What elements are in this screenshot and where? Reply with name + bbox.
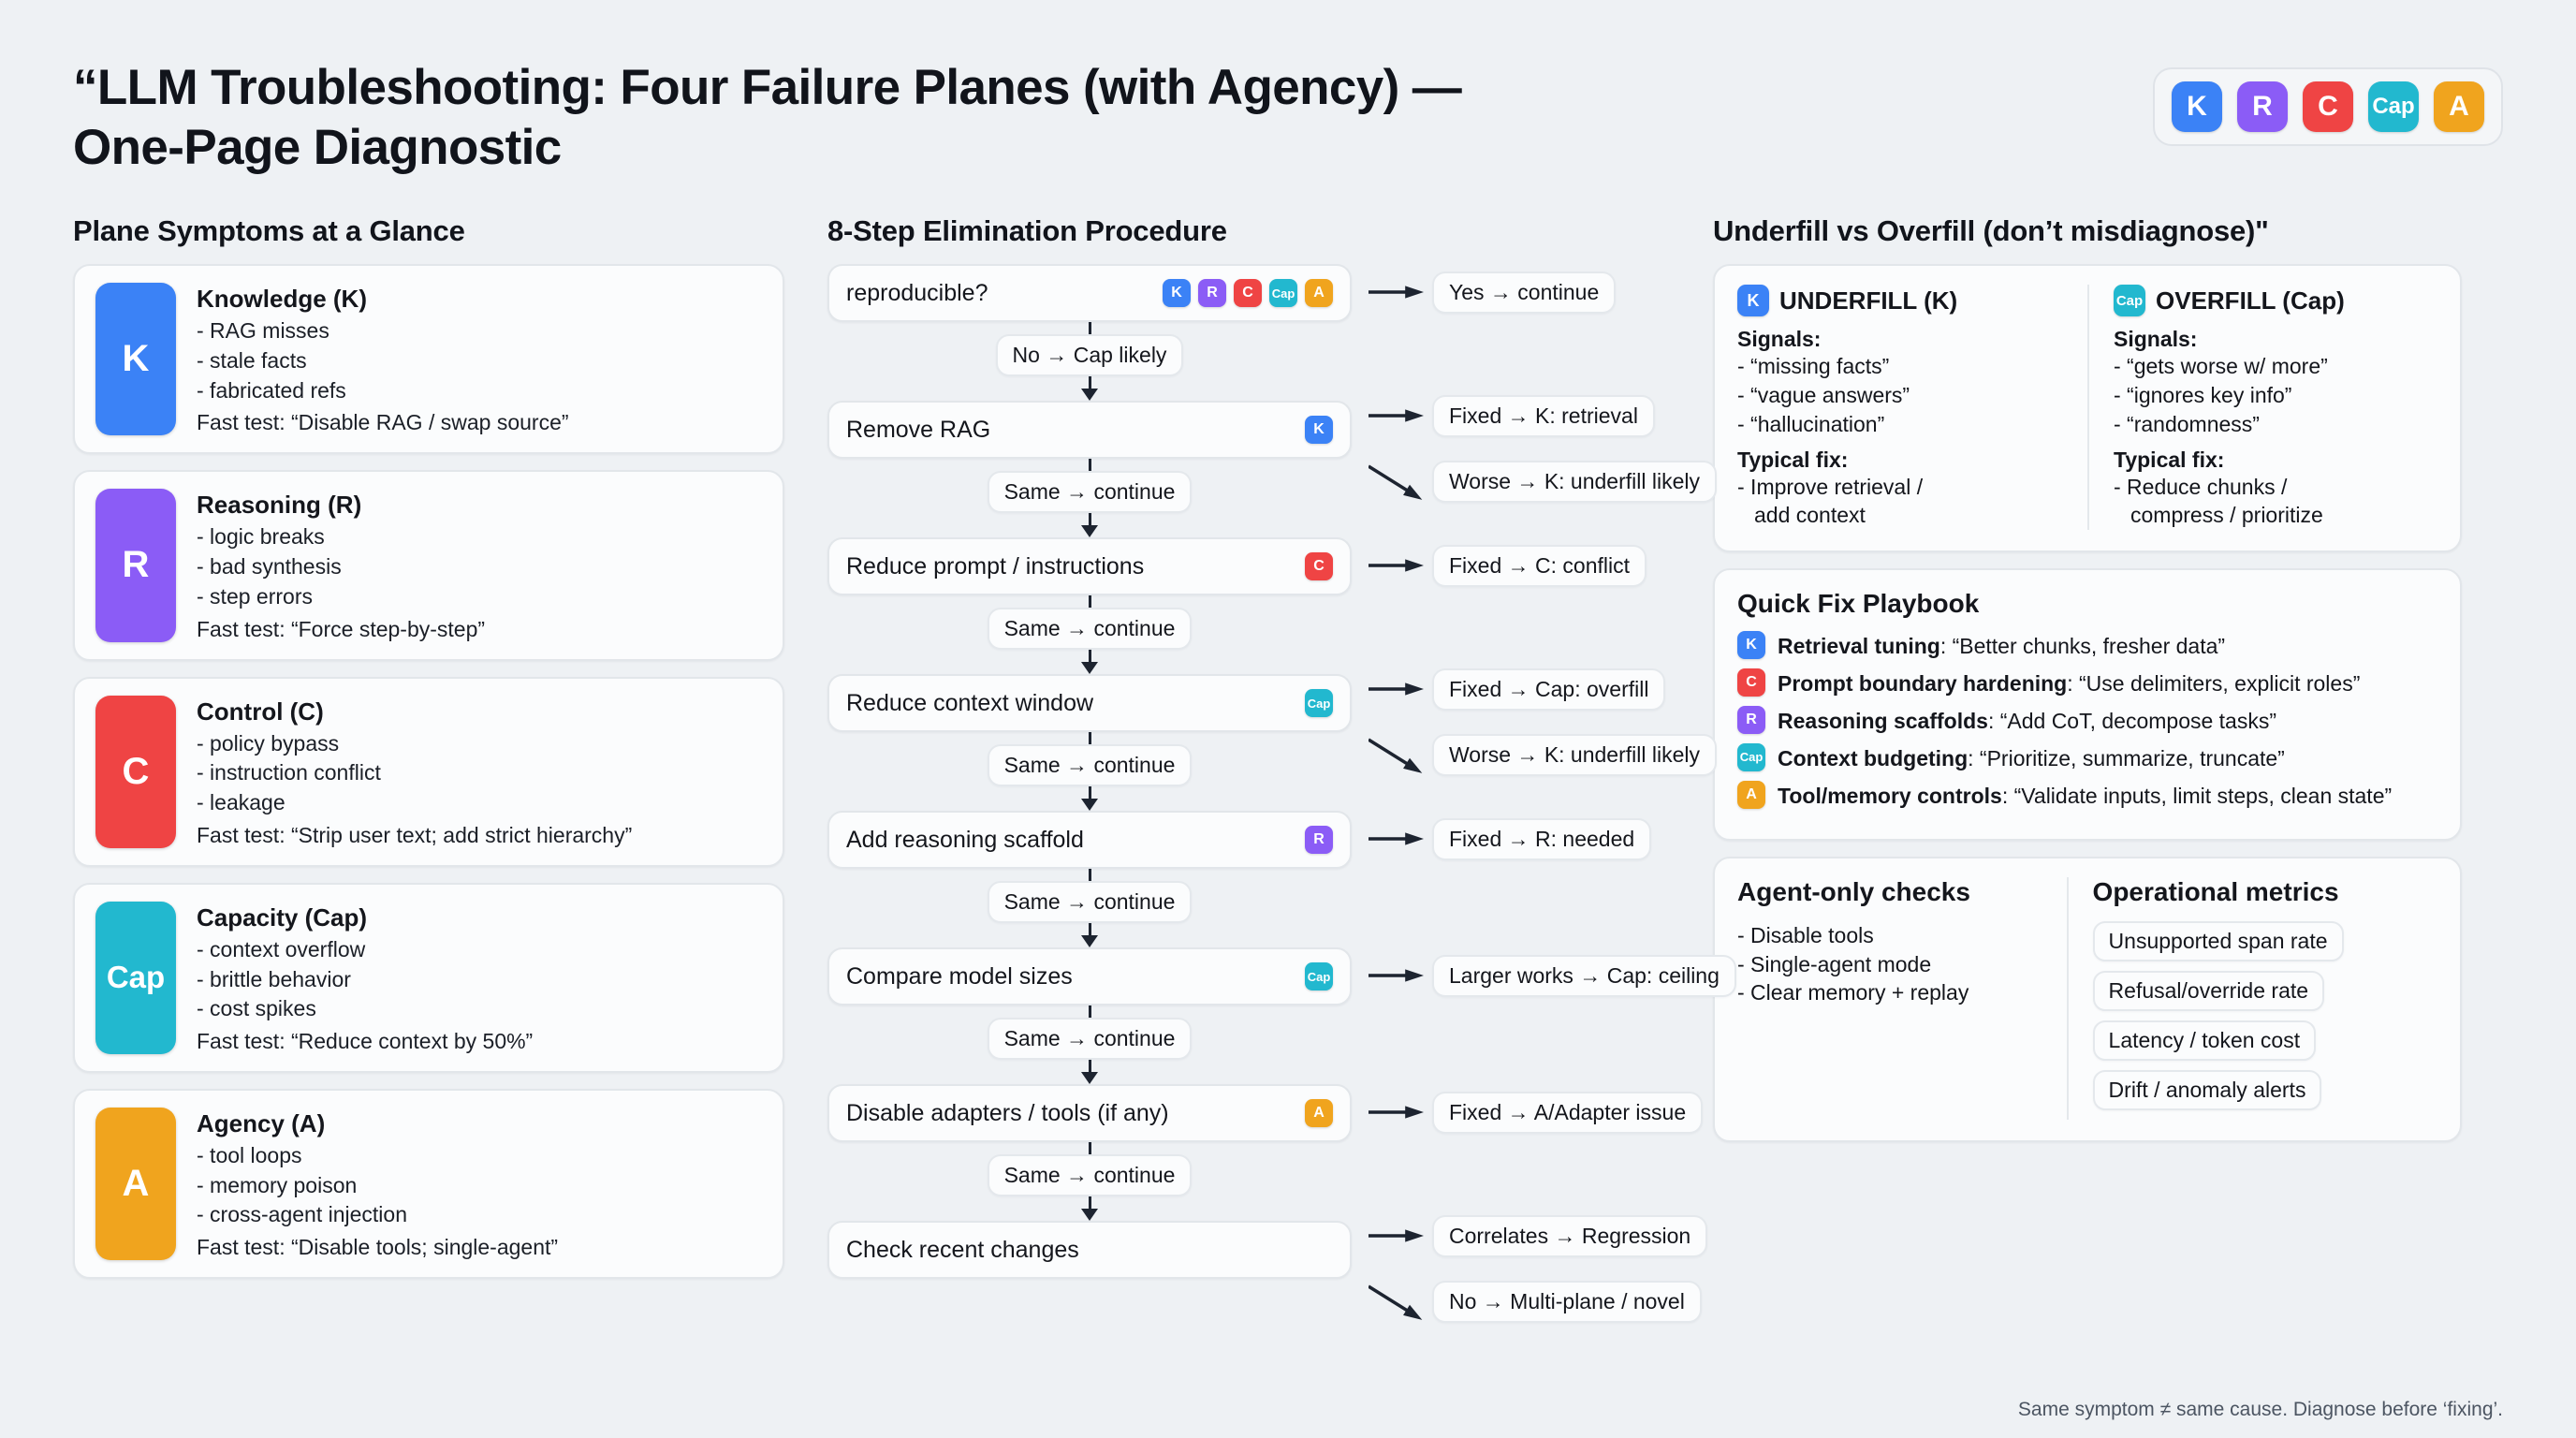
badge-a-icon: A [1305,279,1333,307]
overfill-fix-list: - Reduce chunks /compress / prioritize [2114,473,2437,531]
agent-checks-list: - Disable tools- Single-agent mode- Clea… [1737,921,2052,1007]
underfill-fix-list: - Improve retrieval /add context [1737,473,2069,531]
flow-connector: Same → continue [827,732,1352,811]
flow-step-badges: C [1305,552,1333,580]
flow-arrow-icon [1368,953,1427,998]
flow-connector-line [1089,322,1091,334]
operational-metric-chip[interactable]: Drift / anomaly alerts [2093,1070,2322,1110]
flow-step-row: Reduce prompt / instructionsCFixed → C: … [827,537,1670,595]
flow-arrow-down-icon [1081,799,1098,811]
flow-step-label: Remove RAG [846,417,990,444]
plane-card-body: Control (C)- policy bypass- instruction … [197,696,632,848]
flow-step-row: Check recent changesCorrelates → Regress… [827,1221,1670,1279]
flow-connector: Same → continue [827,1005,1352,1084]
flow-connector: No → Cap likely [827,322,1352,401]
plane-symptom: - tool loops [197,1141,558,1171]
flow-step-node[interactable]: reproducible?KRCCapA [827,264,1352,322]
underfill-header: K UNDERFILL (K) [1737,285,2069,316]
flow-outcome-pill[interactable]: No → Multi-plane / novel [1432,1281,1702,1323]
flow-outcome-pill[interactable]: Larger works → Cap: ceiling [1432,955,1736,997]
flow-step-node[interactable]: Check recent changes [827,1221,1352,1279]
plane-tile-cap: Cap [95,902,176,1054]
badge-k-icon: K [2172,81,2222,132]
underfill-title: UNDERFILL (K) [1779,286,1957,315]
flow-connector-pill: Same → continue [988,1154,1193,1196]
plane-name: Control (C) [197,697,632,726]
flow-step-row: Compare model sizesCapLarger works → Cap… [827,947,1670,1005]
flow-connector-line [1089,376,1091,389]
flow-step-label: Add reasoning scaffold [846,827,1084,854]
underfill-fix-label: Typical fix: [1737,448,2069,473]
overfill-header: Cap OVERFILL (Cap) [2114,285,2437,316]
plane-fast-test: Fast test: “Disable RAG / swap source” [197,410,569,435]
operational-metrics-panel: Operational metrics Unsupported span rat… [2067,877,2437,1120]
flow-step-badges: KRCCapA [1163,279,1333,307]
plane-legend: KRCCapA [2153,67,2503,146]
flow-arrow-icon [1368,459,1427,504]
flow-outcome-pill[interactable]: Fixed → K: retrieval [1432,395,1655,437]
plane-fast-test: Fast test: “Force step-by-step” [197,617,485,642]
flow-outcome: Correlates → Regression [1368,1213,1707,1258]
flow-arrow-down-icon [1081,935,1098,947]
flow-outcome: No → Multi-plane / novel [1368,1279,1702,1324]
flow-outcome-pill[interactable]: Fixed → C: conflict [1432,545,1647,587]
flow-arrow-down-icon [1081,662,1098,674]
overfill-panel: Cap OVERFILL (Cap) Signals: - “gets wors… [2087,285,2437,530]
badge-a-icon: A [2434,81,2484,132]
plane-symptom: - logic breaks [197,522,485,552]
flow-outcome: Fixed → R: needed [1368,816,1651,861]
flow-connector-line [1089,1060,1091,1072]
overfill-signal: - “ignores key info” [2114,381,2437,410]
flow-step-badges: Cap [1305,689,1333,717]
badge-cap-icon: Cap [1305,689,1333,717]
flow-arrow-icon [1368,270,1427,315]
badge-cap-icon: Cap [1737,743,1765,771]
flow-step-row: Remove RAGKFixed → K: retrievalWorse → K… [827,401,1670,459]
plane-name: Reasoning (R) [197,491,485,520]
badge-a-icon: A [1305,1099,1333,1127]
quick-fix-playbook-card: Quick Fix Playbook KRetrieval tuning: “B… [1713,568,2462,840]
underfill-fix-item: - Improve retrieval / [1737,473,2069,502]
playbook-item-text: Retrieval tuning: “Better chunks, freshe… [1778,631,2225,661]
operational-metrics-title: Operational metrics [2093,877,2437,907]
flow-outcome-pill[interactable]: Yes → continue [1432,271,1616,314]
underfill-panel: K UNDERFILL (K) Signals: - “missing fact… [1737,285,2087,530]
plane-tile-r: R [95,489,176,641]
section-title-elimination: 8-Step Elimination Procedure [827,214,1670,248]
diagnostic-poster: “LLM Troubleshooting: Four Failure Plane… [0,0,2576,1438]
agent-check-item: - Disable tools [1737,921,2052,950]
badge-r-icon: R [1305,826,1333,854]
plane-card-body: Knowledge (K)- RAG misses- stale facts- … [197,283,569,435]
flow-outcome-pill[interactable]: Worse → K: underfill likely [1432,734,1717,776]
flow-connector-pill: No → Cap likely [996,334,1184,376]
flow-connector-line [1089,1142,1091,1154]
flow-connector-pill: Same → continue [988,1018,1193,1060]
plane-tile-a: A [95,1108,176,1260]
plane-fast-test: Fast test: “Reduce context by 50%” [197,1029,533,1054]
playbook-item-text: Tool/memory controls: “Validate inputs, … [1778,781,2392,811]
flow-connector-line [1089,732,1091,744]
playbook-item: ATool/memory controls: “Validate inputs,… [1737,781,2437,811]
playbook-item-text: Context budgeting: “Prioritize, summariz… [1778,743,2285,773]
overfill-fix-item: - Reduce chunks / [2114,473,2437,502]
flow-outcome-pill[interactable]: Correlates → Regression [1432,1215,1707,1257]
plane-card: CapCapacity (Cap)- context overflow- bri… [73,883,784,1073]
plane-fast-test: Fast test: “Disable tools; single-agent” [197,1235,558,1260]
flow-step-row: Disable adapters / tools (if any)AFixed … [827,1084,1670,1142]
underfill-signal: - “vague answers” [1737,381,2069,410]
column-plane-symptoms: Plane Symptoms at a Glance KKnowledge (K… [73,214,784,1295]
column-underfill-overfill: Underfill vs Overfill (don’t misdiagnose… [1713,214,2462,1295]
flow-arrow-icon [1368,667,1427,712]
flow-arrow-down-icon [1081,389,1098,401]
footnote: Same symptom ≠ same cause. Diagnose befo… [2018,1399,2503,1421]
flow-outcome: Larger works → Cap: ceiling [1368,953,1736,998]
flow-arrow-icon [1368,393,1427,438]
plane-card: AAgency (A)- tool loops- memory poison- … [73,1089,784,1279]
flow-step-badges: A [1305,1099,1333,1127]
underfill-badge-icon: K [1737,285,1769,316]
flow-step-label: reproducible? [846,280,988,307]
playbook-item: RReasoning scaffolds: “Add CoT, decompos… [1737,706,2437,736]
plane-card-body: Agency (A)- tool loops- memory poison- c… [197,1108,558,1260]
flow-arrow-down-icon [1081,1209,1098,1221]
badge-cap-icon: Cap [1269,279,1297,307]
plane-symptom: - fabricated refs [197,376,569,406]
plane-symptom: - RAG misses [197,316,569,346]
overfill-signal: - “gets worse w/ more” [2114,352,2437,381]
overfill-fix-label: Typical fix: [2114,448,2437,473]
plane-card-body: Reasoning (R)- logic breaks- bad synthes… [197,489,485,641]
badge-r-icon: R [1198,279,1226,307]
badge-cap-icon: Cap [1305,962,1333,990]
flow-connector-pill: Same → continue [988,608,1193,650]
plane-tile-k: K [95,283,176,435]
flow-connector-line [1089,869,1091,881]
playbook-item: KRetrieval tuning: “Better chunks, fresh… [1737,631,2437,661]
operational-metrics-list: Unsupported span rateRefusal/override ra… [2093,921,2437,1120]
flow-connector: Same → continue [827,869,1352,947]
operational-metric-row: Refusal/override rate [2093,971,2437,1020]
plane-name: Knowledge (K) [197,285,569,314]
flow-step-node[interactable]: Reduce context windowCap [827,674,1352,732]
underfill-signal: - “missing facts” [1737,352,2069,381]
flow-step-node[interactable]: Disable adapters / tools (if any)A [827,1084,1352,1142]
underfill-signals-label: Signals: [1737,327,2069,352]
flow-step-row: Reduce context windowCapFixed → Cap: ove… [827,674,1670,732]
flow-connector-pill: Same → continue [988,881,1193,923]
badge-c-icon: C [2303,81,2353,132]
flow-arrow-icon [1368,543,1427,588]
flow-outcome: Fixed → A/Adapter issue [1368,1090,1703,1135]
playbook-item-text: Prompt boundary hardening: “Use delimite… [1778,668,2360,698]
flow-step-node[interactable]: Compare model sizesCap [827,947,1352,1005]
flow-connector-line [1089,1196,1091,1209]
flow-outcome-pill[interactable]: Worse → K: underfill likely [1432,461,1717,503]
flow-connector-pill: Same → continue [988,471,1193,513]
flow-connector: Same → continue [827,1142,1352,1221]
badge-a-icon: A [1737,781,1765,809]
agent-only-checks-panel: Agent-only checks - Disable tools- Singl… [1737,877,2067,1120]
flow-step-row: reproducible?KRCCapAYes → continue [827,264,1670,322]
underfill-signal: - “hallucination” [1737,410,2069,439]
flow-outcome: Yes → continue [1368,270,1616,315]
flow-arrow-icon [1368,1090,1427,1135]
flow-outcome: Fixed → Cap: overfill [1368,667,1665,712]
operational-metric-row: Latency / token cost [2093,1020,2437,1070]
plane-symptom: - instruction conflict [197,758,632,788]
flow-arrow-icon [1368,732,1427,777]
flow-outcome-pill[interactable]: Fixed → R: needed [1432,818,1651,860]
flow-step-label: Check recent changes [846,1237,1079,1264]
flow-outcome-pill[interactable]: Fixed → Cap: overfill [1432,668,1665,711]
badge-c-icon: C [1737,668,1765,697]
playbook-title: Quick Fix Playbook [1737,589,2437,619]
overfill-signals-list: - “gets worse w/ more”- “ignores key inf… [2114,352,2437,438]
plane-card-list: KKnowledge (K)- RAG misses- stale facts-… [73,264,784,1279]
flow-step-badges: R [1305,826,1333,854]
flow-step-label: Disable adapters / tools (if any) [846,1100,1169,1127]
section-title-underfill-overfill: Underfill vs Overfill (don’t misdiagnose… [1713,214,2462,248]
badge-c-icon: C [1234,279,1262,307]
plane-card: CControl (C)- policy bypass- instruction… [73,677,784,867]
plane-card: RReasoning (R)- logic breaks- bad synthe… [73,470,784,660]
section-title-plane-symptoms: Plane Symptoms at a Glance [73,214,784,248]
flow-step-label: Reduce prompt / instructions [846,553,1144,580]
operational-metric-row: Drift / anomaly alerts [2093,1070,2437,1120]
playbook-item: CPrompt boundary hardening: “Use delimit… [1737,668,2437,698]
column-elimination-procedure: 8-Step Elimination Procedure reproducibl… [827,214,1670,1295]
flow-connector-line [1089,1005,1091,1018]
agent-check-item: - Single-agent mode [1737,950,2052,979]
flow-connector-line [1089,786,1091,799]
operational-metric-chip[interactable]: Unsupported span rate [2093,921,2344,961]
agent-checks-title: Agent-only checks [1737,877,2052,907]
plane-symptom: - step errors [197,582,485,612]
underfill-fix-item: add context [1737,501,2069,530]
flow-arrow-down-icon [1081,525,1098,537]
operational-metric-chip[interactable]: Refusal/override rate [2093,971,2325,1011]
overfill-badge-icon: Cap [2114,285,2145,316]
content-columns: Plane Symptoms at a Glance KKnowledge (K… [73,214,2503,1295]
flow-arrow-icon [1368,816,1427,861]
plane-card-body: Capacity (Cap)- context overflow- brittl… [197,902,533,1054]
plane-symptom: - stale facts [197,346,569,376]
flow-connector-pill: Same → continue [988,744,1193,786]
badge-r-icon: R [2237,81,2288,132]
plane-symptom: - policy bypass [197,729,632,759]
badge-r-icon: R [1737,706,1765,734]
plane-fast-test: Fast test: “Strip user text; add strict … [197,823,632,848]
flow-step-node[interactable]: Add reasoning scaffoldR [827,811,1352,869]
flow-arrow-icon [1368,1213,1427,1258]
flow-arrow-down-icon [1081,1072,1098,1084]
underfill-overfill-card: K UNDERFILL (K) Signals: - “missing fact… [1713,264,2462,552]
playbook-item-list: KRetrieval tuning: “Better chunks, fresh… [1737,631,2437,810]
badge-cap-icon: Cap [2368,81,2419,132]
playbook-item-text: Reasoning scaffolds: “Add CoT, decompose… [1778,706,2276,736]
flow-step-node[interactable]: Reduce prompt / instructionsC [827,537,1352,595]
plane-card: KKnowledge (K)- RAG misses- stale facts-… [73,264,784,454]
flow-step-badges: K [1305,416,1333,444]
elimination-flowchart: reproducible?KRCCapAYes → continueNo → C… [827,264,1670,1279]
flow-connector: Same → continue [827,459,1352,537]
flow-connector-line [1089,459,1091,471]
plane-symptom: - cost spikes [197,994,533,1024]
plane-symptom: - bad synthesis [197,552,485,582]
plane-symptom: - context overflow [197,935,533,965]
plane-tile-c: C [95,696,176,848]
agent-check-item: - Clear memory + replay [1737,978,2052,1007]
page-title: “LLM Troubleshooting: Four Failure Plane… [73,58,1477,177]
plane-symptom: - memory poison [197,1171,558,1201]
flow-arrow-icon [1368,1279,1427,1324]
flow-step-label: Reduce context window [846,690,1093,717]
flow-step-row: Add reasoning scaffoldRFixed → R: needed [827,811,1670,869]
badge-k-icon: K [1163,279,1191,307]
flow-connector: Same → continue [827,595,1352,674]
playbook-item: CapContext budgeting: “Prioritize, summa… [1737,743,2437,773]
plane-name: Capacity (Cap) [197,903,533,932]
badge-c-icon: C [1305,552,1333,580]
overfill-signals-label: Signals: [2114,327,2437,352]
overfill-title: OVERFILL (Cap) [2156,286,2345,315]
flow-outcome: Worse → K: underfill likely [1368,732,1717,777]
flow-connector-line [1089,650,1091,662]
flow-step-badges: Cap [1305,962,1333,990]
overfill-fix-item: compress / prioritize [2114,501,2437,530]
operational-metric-row: Unsupported span rate [2093,921,2437,971]
plane-name: Agency (A) [197,1109,558,1138]
flow-connector-line [1089,923,1091,935]
flow-outcome: Fixed → K: retrieval [1368,393,1655,438]
flow-connector-line [1089,595,1091,608]
flow-step-label: Compare model sizes [846,963,1073,990]
header: “LLM Troubleshooting: Four Failure Plane… [73,58,2503,177]
flow-outcome: Worse → K: underfill likely [1368,459,1717,504]
flow-step-node[interactable]: Remove RAGK [827,401,1352,459]
plane-symptom: - leakage [197,788,632,818]
flow-outcome-pill[interactable]: Fixed → A/Adapter issue [1432,1092,1703,1134]
flow-connector-line [1089,513,1091,525]
plane-symptom: - brittle behavior [197,965,533,995]
plane-symptom: - cross-agent injection [197,1200,558,1230]
operational-metric-chip[interactable]: Latency / token cost [2093,1020,2317,1061]
badge-k-icon: K [1737,631,1765,659]
overfill-signal: - “randomness” [2114,410,2437,439]
flow-outcome: Fixed → C: conflict [1368,543,1647,588]
underfill-signals-list: - “missing facts”- “vague answers”- “hal… [1737,352,2069,438]
badge-k-icon: K [1305,416,1333,444]
agent-checks-metrics-card: Agent-only checks - Disable tools- Singl… [1713,857,2462,1142]
